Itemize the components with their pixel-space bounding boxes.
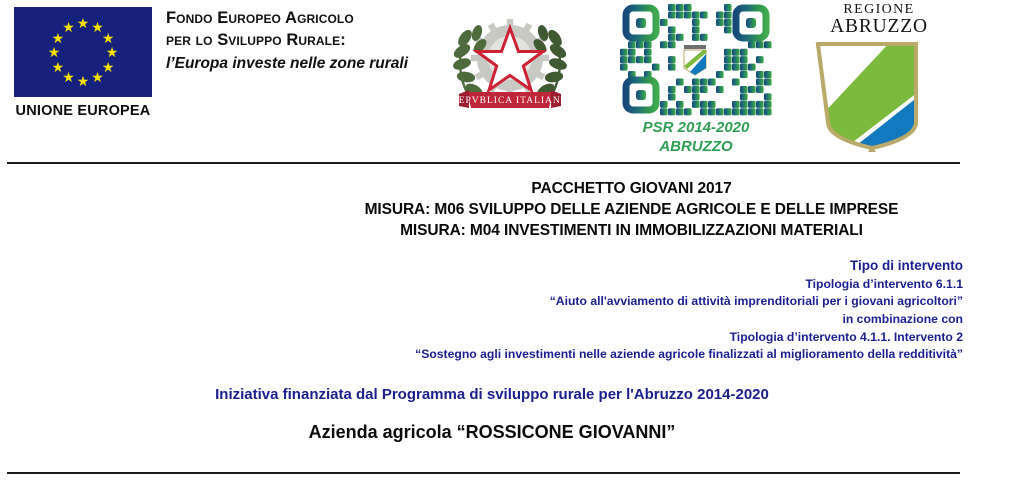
divider-top <box>7 162 960 164</box>
intervention-line-4: “Sostegno agli investimenti nelle aziend… <box>330 346 963 364</box>
psr-caption-line1: PSR 2014-2020 <box>620 118 772 137</box>
intervention-line-0: Tipologia d’intervento 6.1.1 <box>330 276 963 294</box>
eu-star: ★ <box>62 20 75 34</box>
farm-name: Azienda agricola “ROSSICONE GIOVANNI” <box>62 422 922 443</box>
psr-qr-icon <box>620 4 772 116</box>
eu-star: ★ <box>102 31 115 45</box>
eu-star: ★ <box>91 70 104 84</box>
eu-star: ★ <box>77 74 90 88</box>
title-line-2: MISURA: M06 SVILUPPO DELLE AZIENDE AGRIC… <box>300 199 963 220</box>
eu-wording-line3: l’Europa investe nelle zone rurali <box>166 54 416 74</box>
divider-bottom <box>7 472 960 474</box>
eu-wording: Fondo Europeo Agricolo per lo Sviluppo R… <box>166 8 416 74</box>
eu-logo-block: ★★★★★★★★★★★★ UNIONE EUROPEA <box>14 7 156 119</box>
eu-star: ★ <box>52 60 65 74</box>
intervention-block: Tipo di intervento Tipologia d’intervent… <box>330 256 963 364</box>
funding-statement: Iniziativa finanziata dal Programma di s… <box>62 386 922 403</box>
intervention-heading: Tipo di intervento <box>330 256 963 276</box>
eu-caption: UNIONE EUROPEA <box>14 103 152 119</box>
emblem-of-italy-icon: REPVBLICA ITALIANA <box>437 6 583 118</box>
psr-logo-block: PSR 2014-2020 ABRUZZO <box>620 4 780 156</box>
regione-label-line2: ABRUZZO <box>806 16 952 38</box>
eu-stars: ★★★★★★★★★★★★ <box>14 7 152 97</box>
title-line-3: MISURA: M04 INVESTIMENTI IN IMMOBILIZZAZ… <box>300 220 963 241</box>
intervention-line-1: “Aiuto all'avviamento di attività impren… <box>330 293 963 311</box>
italy-ribbon-text: REPVBLICA ITALIANA <box>451 96 568 106</box>
regione-abruzzo-shield-icon <box>806 40 952 152</box>
psr-caption: PSR 2014-2020 ABRUZZO <box>620 118 772 156</box>
title-block: PACCHETTO GIOVANI 2017 MISURA: M06 SVILU… <box>300 178 963 242</box>
eu-wording-line1: Fondo Europeo Agricolo <box>166 8 416 30</box>
eu-star: ★ <box>106 45 119 59</box>
eu-star: ★ <box>77 16 90 30</box>
eu-wording-line2: per lo Sviluppo Rurale: <box>166 30 416 52</box>
logo-strip: ★★★★★★★★★★★★ UNIONE EUROPEA Fondo Europe… <box>0 0 1024 160</box>
regione-abruzzo-block: REGIONE ABRUZZO <box>806 2 956 152</box>
poster-page: ★★★★★★★★★★★★ UNIONE EUROPEA Fondo Europe… <box>0 0 1024 481</box>
intervention-line-3: Tipologia d’intervento 4.1.1. Intervento… <box>330 329 963 347</box>
title-line-1: PACCHETTO GIOVANI 2017 <box>300 178 963 199</box>
eu-flag-icon: ★★★★★★★★★★★★ <box>14 7 152 97</box>
eu-star: ★ <box>48 45 61 59</box>
intervention-line-2: in combinazione con <box>330 311 963 329</box>
psr-caption-line2: ABRUZZO <box>620 137 772 156</box>
